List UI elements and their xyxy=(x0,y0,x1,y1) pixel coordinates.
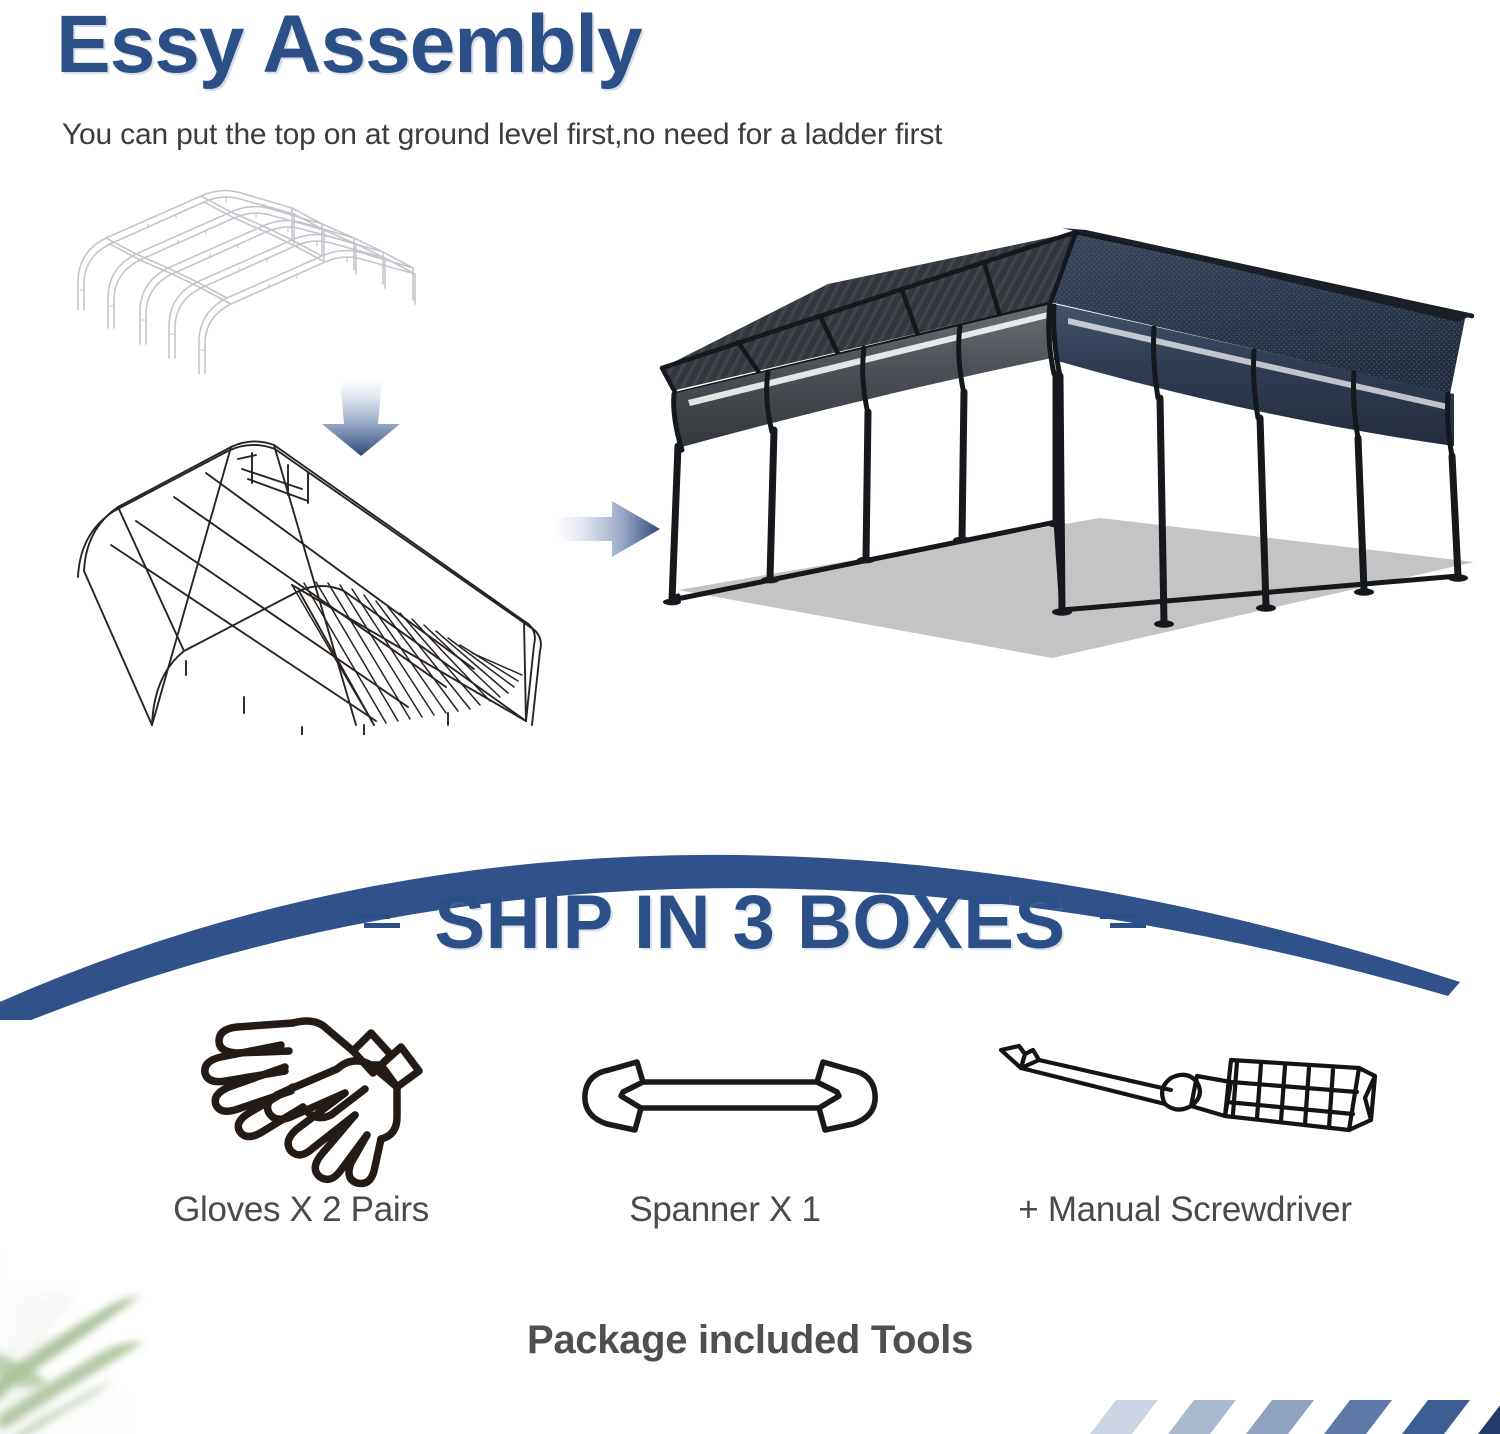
tool-item-gloves: Gloves X 2 Pairs xyxy=(110,1000,510,1230)
page-subtitle: You can put the top on at ground level f… xyxy=(62,118,942,152)
decorative-arc xyxy=(0,720,1500,1020)
tool-item-spanner: Spanner X 1 xyxy=(530,1000,930,1230)
tools-row: Gloves X 2 Pairs Spanner X 1 xyxy=(0,1000,1500,1290)
diagonal-stripes-decoration xyxy=(1080,1372,1500,1434)
package-caption: Package included Tools xyxy=(0,1318,1500,1363)
carport-product-image xyxy=(648,218,1500,678)
infographic-page: Essy Assembly You can put the top on at … xyxy=(0,0,1500,1434)
tool-item-screwdriver: + Manual Screwdriver xyxy=(930,1000,1440,1230)
spanner-icon xyxy=(530,1000,930,1190)
dash-decoration-right xyxy=(1100,911,1146,933)
tool-label-spanner: Spanner X 1 xyxy=(530,1190,930,1230)
gloves-icon xyxy=(110,1000,510,1190)
roof-truss-frames-lineart xyxy=(56,178,496,398)
dash-decoration-left xyxy=(354,911,400,933)
page-title: Essy Assembly xyxy=(56,2,642,88)
tool-label-screwdriver: + Manual Screwdriver xyxy=(930,1190,1440,1230)
tool-label-gloves: Gloves X 2 Pairs xyxy=(110,1190,510,1230)
banner-title: SHIP IN 3 BOXES xyxy=(434,879,1065,966)
screwdriver-icon xyxy=(930,1000,1440,1190)
ship-banner: SHIP IN 3 BOXES xyxy=(0,872,1500,972)
assembled-roof-lineart xyxy=(56,425,566,735)
